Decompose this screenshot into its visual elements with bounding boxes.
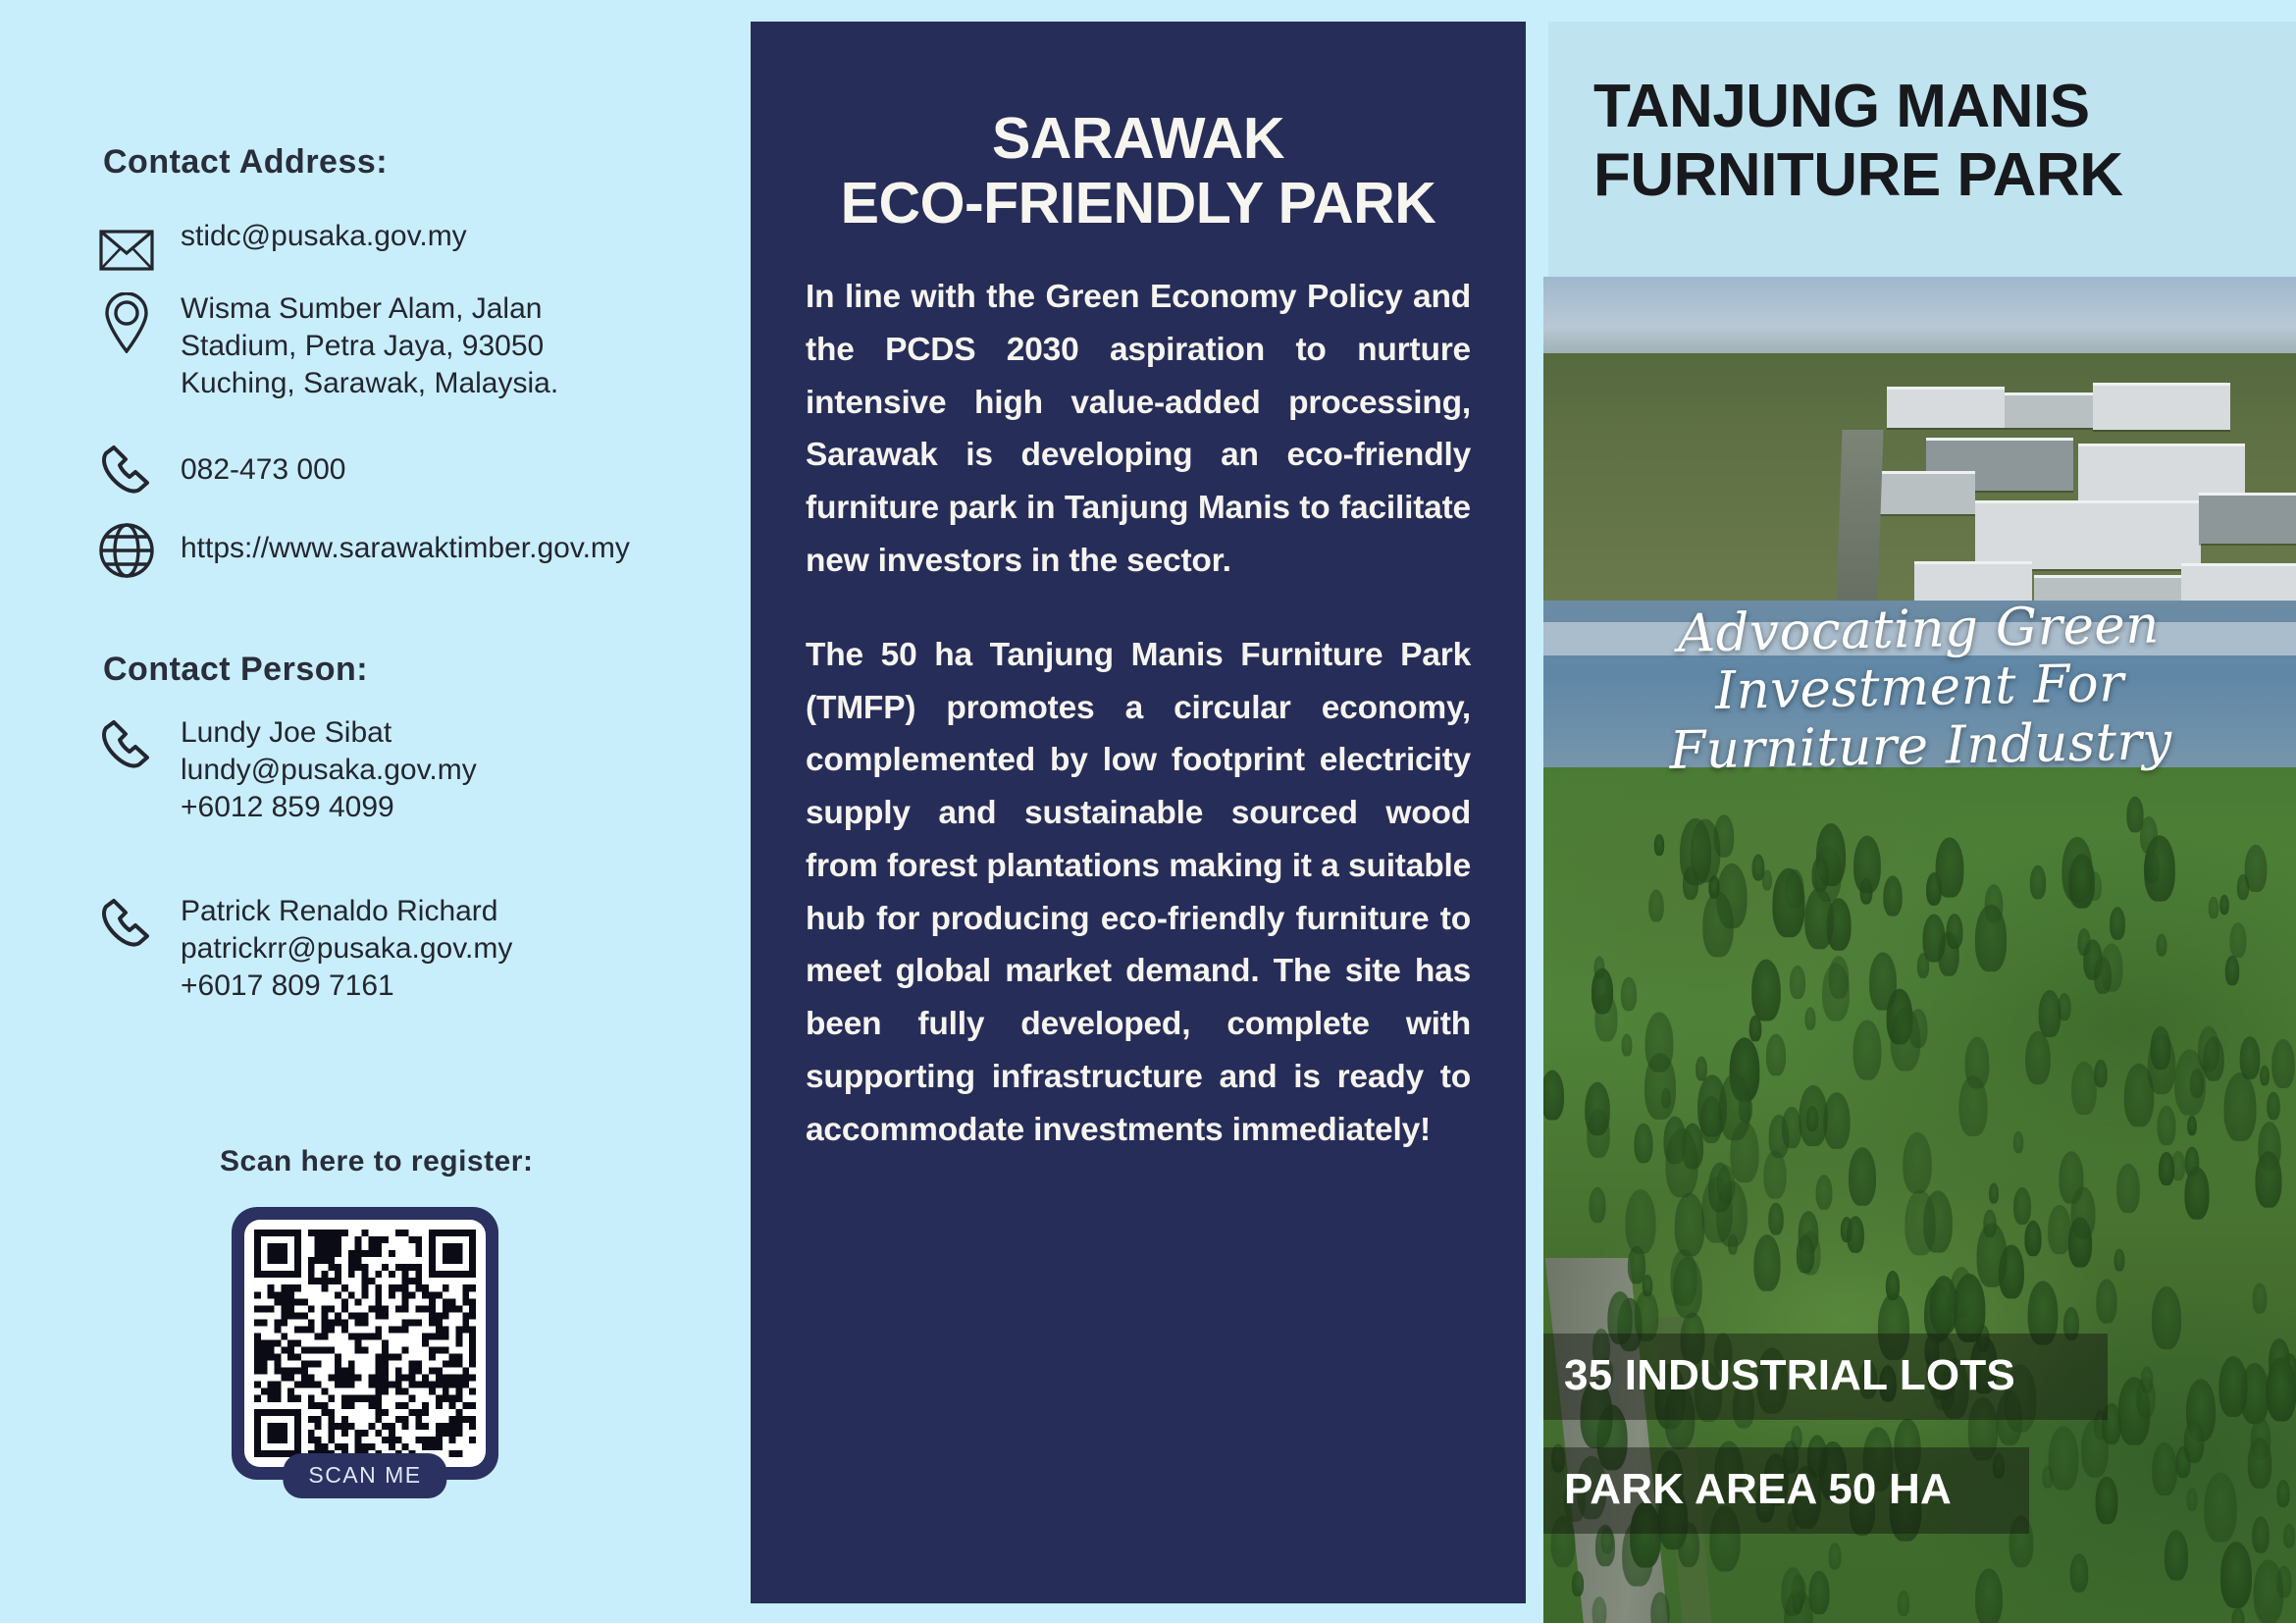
tree <box>1849 1147 1876 1206</box>
tree <box>1796 1234 1813 1273</box>
badge-park-area: PARK AREA 50 HA <box>1543 1447 2029 1534</box>
qr-code-image <box>244 1220 486 1467</box>
tree <box>1806 1106 1818 1132</box>
cover-panel: TANJUNG MANIS FURNITURE PARK <box>1548 22 2296 1623</box>
tree <box>1675 1193 1705 1257</box>
scan-here-heading: Scan here to register: <box>220 1145 533 1178</box>
tree <box>2071 1062 2097 1115</box>
tree <box>1589 1187 1605 1223</box>
tree <box>2266 1357 2296 1421</box>
contact-person-1: Lundy Joe Sibat lundy@pusaka.gov.my +601… <box>94 714 477 826</box>
tree <box>1954 1274 1986 1342</box>
tree <box>2276 1480 2289 1507</box>
badge-industrial-lots: 35 INDUSTRIAL LOTS <box>1543 1334 2108 1420</box>
tree <box>2158 1152 2173 1185</box>
tree <box>2059 993 2071 1021</box>
tagline-line-1: Advocating Green Investment For <box>1543 594 2296 724</box>
tree <box>2158 1105 2176 1144</box>
tree <box>2094 1059 2107 1087</box>
tree <box>1792 1426 1802 1449</box>
tree <box>2096 1279 2116 1323</box>
tree <box>1891 1007 1921 1071</box>
tree <box>1595 994 1618 1042</box>
paragraph-2: The 50 ha Tanjung Manis Furniture Park (… <box>806 629 1471 1157</box>
tree <box>1634 1123 1652 1163</box>
tree <box>2048 1427 2078 1491</box>
tree <box>1790 966 1805 999</box>
tree <box>2150 1026 2170 1070</box>
contact-address-heading: Contact Address: <box>103 143 388 182</box>
tree <box>2116 1164 2140 1213</box>
tree <box>1975 1568 2003 1623</box>
tree <box>2156 934 2166 957</box>
tree <box>2069 854 2095 908</box>
tree <box>1768 1203 1784 1235</box>
center-title: SARAWAK ECO-FRIENDLY PARK <box>806 22 1471 236</box>
tree <box>1822 963 1850 1021</box>
tree <box>1975 905 2007 971</box>
tree <box>1781 1567 1803 1616</box>
tree <box>2253 1559 2283 1623</box>
tree <box>2012 1130 2023 1152</box>
contact-website[interactable]: https://www.sarawaktimber.gov.my <box>181 530 630 567</box>
tree <box>1648 890 1664 922</box>
tree <box>1651 1592 1670 1623</box>
tree <box>2144 835 2175 901</box>
tree <box>1753 1234 1780 1291</box>
contact-panel: Contact Address: stidc@pusaka.gov.my Wis… <box>0 0 751 1623</box>
contact-address: Wisma Sumber Alam, Jalan Stadium, Petra … <box>181 290 653 402</box>
tree <box>1989 1182 1999 1203</box>
cover-title-line-2: FURNITURE PARK <box>1593 141 2296 210</box>
tree <box>1869 952 1897 1010</box>
tree <box>2153 1442 2178 1495</box>
photo-main-road <box>1833 430 1883 608</box>
tree <box>1752 855 1765 881</box>
tree <box>2255 1151 2281 1207</box>
tree <box>1904 1132 1932 1194</box>
tree <box>1809 1570 1830 1614</box>
person-1-details: Lundy Joe Sibat lundy@pusaka.gov.my +601… <box>181 714 477 826</box>
address-line-3: Kuching, Sarawak, Malaysia. <box>181 365 653 402</box>
map-pin-icon <box>94 290 159 355</box>
contact-person-2: Patrick Renaldo Richard patrickrr@pusaka… <box>94 893 512 1005</box>
tree <box>1679 818 1710 885</box>
tree <box>1696 1057 1707 1081</box>
phone-icon <box>94 714 159 779</box>
tree <box>1984 1210 1997 1238</box>
tree <box>2225 956 2239 986</box>
tree <box>2224 1073 2257 1141</box>
contact-phone[interactable]: 082-473 000 <box>181 451 346 489</box>
tree <box>2231 1607 2244 1623</box>
tagline: Advocating Green Investment For Furnitur… <box>1543 594 2296 783</box>
tree <box>1621 977 1637 1012</box>
paragraph-1: In line with the Green Economy Policy an… <box>806 271 1471 588</box>
tree <box>1717 1165 1736 1203</box>
address-line-1: Wisma Sumber Alam, Jalan <box>181 290 653 328</box>
tree <box>2208 897 2218 918</box>
tree <box>1654 834 1664 856</box>
tree <box>1543 1071 1564 1121</box>
tree <box>1886 1271 1900 1300</box>
tree <box>1959 1075 1988 1136</box>
photo-industrial-area <box>1543 353 2296 608</box>
tree <box>2272 1039 2296 1088</box>
tree <box>1853 835 1881 893</box>
tree <box>2152 1286 2181 1349</box>
tree <box>2230 922 2247 958</box>
center-title-line-1: SARAWAK <box>806 106 1471 171</box>
contact-row-website: https://www.sarawaktimber.gov.my <box>94 518 630 583</box>
center-title-line-2: ECO-FRIENDLY PARK <box>806 171 1471 236</box>
tree <box>2025 1030 2051 1083</box>
tree <box>2260 1066 2270 1086</box>
tree <box>1748 1015 1761 1041</box>
tree <box>2252 1283 2267 1314</box>
contact-person-heading: Contact Person: <box>103 651 368 689</box>
phone-icon <box>94 440 159 504</box>
scan-me-badge: SCAN ME <box>283 1453 446 1498</box>
person-2-phone[interactable]: +6017 809 7161 <box>181 968 512 1005</box>
envelope-icon <box>94 218 159 283</box>
tree <box>1719 1073 1750 1140</box>
tree <box>2283 1524 2295 1548</box>
tree <box>1751 959 1781 1021</box>
tree <box>1811 857 1828 892</box>
tree <box>1828 1544 1841 1571</box>
address-line-2: Stadium, Petra Jaya, 93050 <box>181 328 653 365</box>
contact-row-address: Wisma Sumber Alam, Jalan Stadium, Petra … <box>94 290 653 402</box>
tree <box>1702 891 1733 957</box>
tree <box>1585 1082 1610 1135</box>
description-panel: SARAWAK ECO-FRIENDLY PARK In line with t… <box>751 22 1526 1603</box>
tree <box>2013 1187 2031 1225</box>
tree <box>2187 1115 2197 1134</box>
tree <box>2070 1186 2095 1238</box>
tree <box>1804 1007 1815 1029</box>
tree <box>2185 1168 2210 1220</box>
tree <box>1645 1013 1674 1073</box>
tree <box>2239 1036 2260 1079</box>
person-1-name: Lundy Joe Sibat <box>181 714 477 752</box>
tree <box>2267 1091 2279 1120</box>
tree <box>1773 867 1805 936</box>
contact-email[interactable]: stidc@pusaka.gov.my <box>181 218 467 255</box>
tree <box>2024 1220 2041 1255</box>
tree <box>2095 1477 2117 1525</box>
qr-code[interactable]: SCAN ME <box>232 1207 498 1480</box>
contact-row-email: stidc@pusaka.gov.my <box>94 218 467 283</box>
tree <box>1898 1590 1909 1616</box>
tree <box>2252 1516 2270 1552</box>
tree <box>1848 1216 1865 1253</box>
tree <box>2183 1420 2204 1463</box>
person-1-phone[interactable]: +6012 859 4099 <box>181 789 477 826</box>
person-2-email[interactable]: patrickrr@pusaka.gov.my <box>181 930 512 968</box>
tree <box>2140 1367 2153 1393</box>
tree <box>2094 956 2112 993</box>
tree <box>1572 1572 1584 1597</box>
tree <box>1766 1033 1786 1075</box>
person-2-name: Patrick Renaldo Richard <box>181 893 512 930</box>
tree <box>1782 1107 1801 1149</box>
qr-canvas <box>254 1230 476 1457</box>
tree <box>1625 1189 1655 1254</box>
globe-icon <box>94 518 159 583</box>
tree <box>1923 914 1946 962</box>
tree <box>1905 1190 1936 1256</box>
tree <box>2219 894 2229 914</box>
tree <box>2030 864 2046 899</box>
tree <box>1622 1034 1633 1057</box>
tree <box>2114 1248 2125 1271</box>
person-2-details: Patrick Renaldo Richard patrickrr@pusaka… <box>181 893 512 1005</box>
tree <box>2247 1438 2270 1489</box>
tree <box>2198 1026 2219 1073</box>
phone-icon <box>94 893 159 958</box>
tree <box>2219 1356 2248 1417</box>
tree <box>1946 914 1962 949</box>
contact-row-phone: 082-473 000 <box>94 440 346 504</box>
tree <box>1884 875 1903 916</box>
tree <box>2186 1488 2197 1511</box>
tree <box>2165 1530 2188 1580</box>
tree <box>1853 1020 1882 1079</box>
cover-title-line-1: TANJUNG MANIS <box>1593 73 2296 141</box>
tree <box>2245 845 2268 892</box>
tree <box>2204 1473 2236 1543</box>
cover-title: TANJUNG MANIS FURNITURE PARK <box>1548 22 2296 210</box>
tree <box>2110 907 2125 940</box>
tree <box>1815 1175 1832 1210</box>
tree <box>1643 1275 1653 1296</box>
person-1-email[interactable]: lundy@pusaka.gov.my <box>181 752 477 789</box>
tree <box>1804 887 1833 949</box>
tree <box>1674 1257 1702 1319</box>
tree <box>2220 1542 2252 1608</box>
tree <box>2069 1554 2088 1593</box>
aerial-photo: Advocating Green Investment For Furnitur… <box>1543 277 2296 1623</box>
tree <box>1764 1151 1787 1199</box>
tree <box>1930 1276 1957 1335</box>
tree <box>1593 957 1604 979</box>
tree <box>1926 872 1942 906</box>
tree <box>1666 1127 1698 1196</box>
